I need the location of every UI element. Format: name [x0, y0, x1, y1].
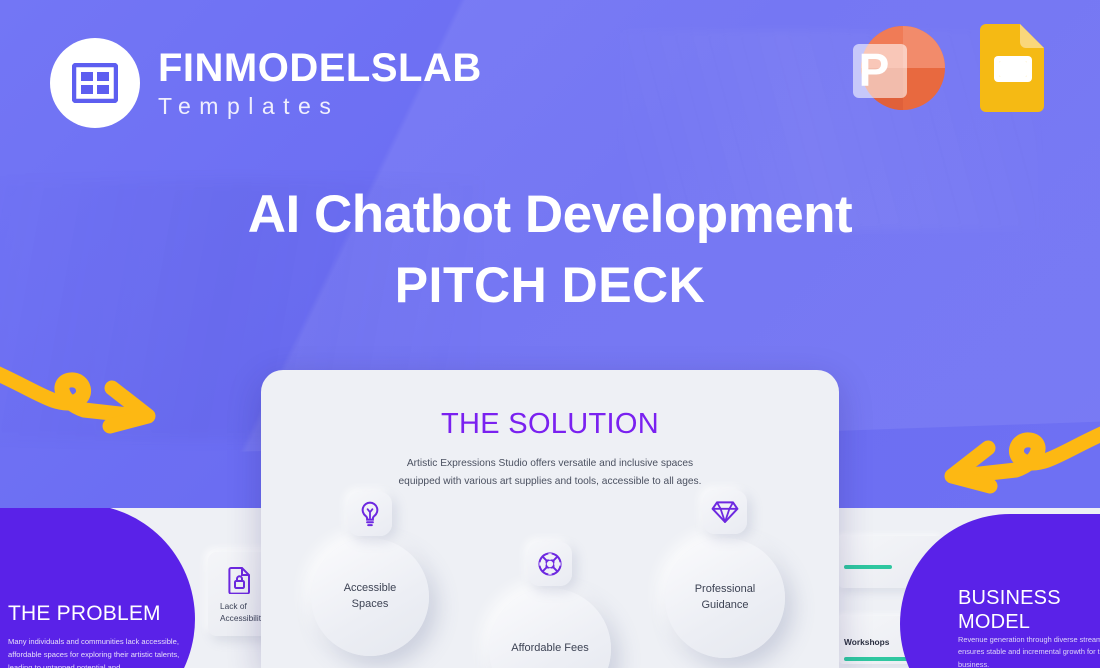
solution-item-label: Accessible Spaces [311, 581, 429, 613]
business-title: BUSINESS MODEL [958, 586, 1100, 634]
business-body-text: Revenue generation through diverse strea… [958, 634, 1100, 668]
slide-preview-stage: FINMODELSLAB Templates P [0, 0, 1100, 668]
solution-title: THE SOLUTION [261, 408, 839, 441]
brand-name: FINMODELSLAB [158, 48, 482, 88]
solution-item-label-line2: Spaces [321, 597, 419, 613]
google-slides-icon[interactable] [972, 24, 1052, 112]
solution-item-label: Affordable Fees [489, 641, 611, 657]
grid-squares-icon [50, 38, 140, 128]
hero-title-group: AI Chatbot Development PITCH DECK [0, 185, 1100, 313]
slide-preview-business-model[interactable]: Workshops BUSINESS MODEL Revenue generat… [830, 508, 1100, 668]
problem-body-text: Many individuals and communities lack ac… [8, 635, 190, 668]
lightbulb-icon [348, 492, 392, 536]
lifebuoy-icon [528, 542, 572, 586]
diamond-icon [703, 490, 747, 534]
format-icons-group: P [845, 24, 1052, 112]
solution-item-accessible-spaces[interactable]: Accessible Spaces [311, 538, 429, 656]
document-lock-icon [228, 566, 252, 599]
squiggly-arrow-right-icon [0, 352, 182, 447]
business-item-label: Workshops [844, 637, 889, 647]
solution-item-label-line1: Accessible [321, 581, 419, 597]
solution-item-professional-guidance[interactable]: Professional Guidance [665, 538, 785, 658]
brand-logo[interactable]: FINMODELSLAB Templates [50, 38, 482, 128]
solution-item-label-line1: Professional [675, 582, 775, 598]
squiggly-arrow-left-icon [918, 412, 1100, 507]
solution-item-label-line2: Guidance [675, 598, 775, 614]
page-subtitle: PITCH DECK [0, 258, 1100, 313]
slide-preview-solution[interactable]: THE SOLUTION Artistic Expressions Studio… [261, 370, 839, 668]
powerpoint-icon[interactable]: P [845, 24, 950, 112]
business-title-line2: MODEL [958, 610, 1100, 634]
solution-item-label: Professional Guidance [665, 582, 785, 614]
solution-item-label-line1: Affordable Fees [499, 641, 601, 657]
solution-items-group: Accessible Spaces Affordable Fees [261, 500, 839, 668]
business-bar-top [844, 565, 892, 569]
page-title: AI Chatbot Development [0, 185, 1100, 244]
problem-title: THE PROBLEM [8, 603, 208, 624]
svg-text:P: P [859, 44, 890, 96]
solution-item-affordable-fees[interactable]: Affordable Fees [489, 588, 611, 668]
brand-subtitle: Templates [158, 95, 482, 118]
business-title-line1: BUSINESS [958, 586, 1100, 610]
solution-body-text: Artistic Expressions Studio offers versa… [390, 455, 710, 491]
